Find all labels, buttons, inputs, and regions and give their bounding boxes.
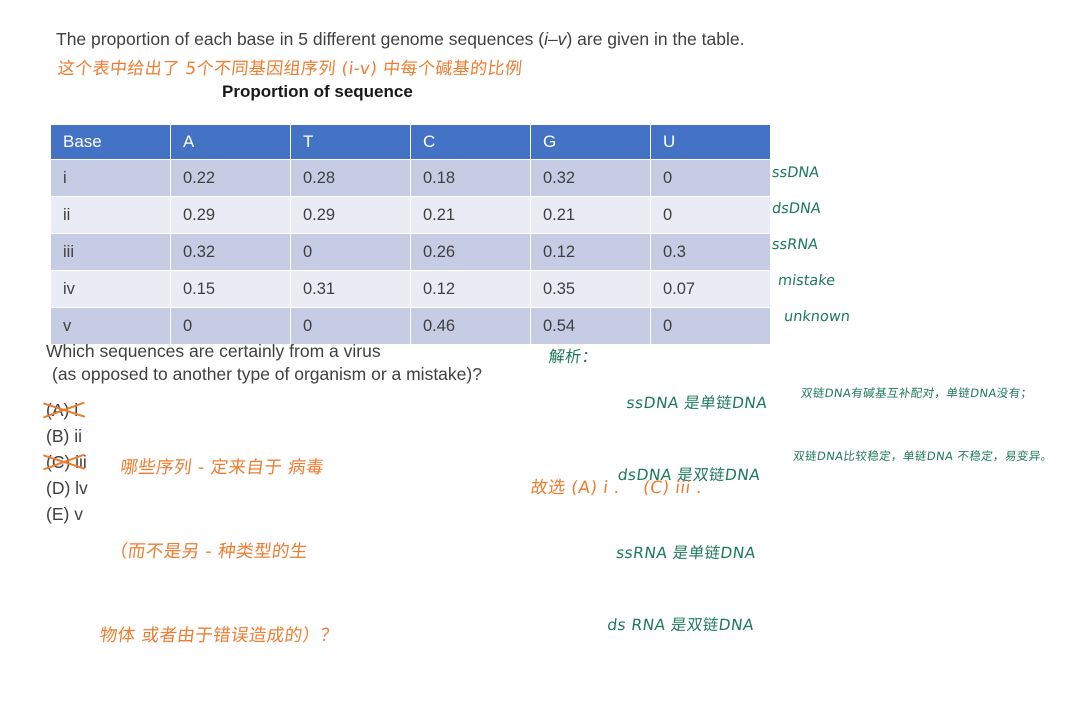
cell-a: 0.15 [171, 271, 291, 308]
genome-proportion-table: Base A T C G U i 0.22 0.28 0.18 0.32 0 i… [50, 124, 771, 345]
table-header-row: Base A T C G U [51, 125, 771, 160]
question-stem-suffix: ) are given in the table. [566, 29, 744, 49]
cell-c: 0.21 [411, 197, 531, 234]
cell-c: 0.26 [411, 234, 531, 271]
handwritten-explanation-label: 解析： [548, 343, 600, 367]
cell-t: 0.29 [291, 197, 411, 234]
handwritten-explanation-list: ssDNA 是单链DNA dsDNA 是双链DNA ssRNA 是单链DNA d… [592, 343, 789, 685]
table-header-a: A [171, 125, 291, 160]
question-line-2: (as opposed to another type of organism … [46, 363, 482, 386]
cell-u: 0.07 [651, 271, 771, 308]
question-text: Which sequences are certainly from a vir… [46, 340, 482, 386]
cell-g: 0.21 [531, 197, 651, 234]
table-caption: Proportion of sequence [222, 82, 413, 102]
answer-choice-d[interactable]: (D) lv [46, 475, 88, 501]
answer-choice-a[interactable]: (A) i [46, 397, 88, 423]
cell-u: 0.3 [651, 234, 771, 271]
table-header-g: G [531, 125, 651, 160]
slide-canvas: The proportion of each base in 5 differe… [0, 0, 1080, 608]
table-row: v 0 0 0.46 0.54 0 [51, 308, 771, 345]
answer-choice-a-label: (A) i [46, 400, 78, 420]
cell-base: i [51, 160, 171, 197]
answer-choice-e[interactable]: (E) v [46, 501, 88, 527]
cell-t: 0.28 [291, 160, 411, 197]
cell-g: 0.32 [531, 160, 651, 197]
cell-base: ii [51, 197, 171, 234]
row-annotation-i: ssDNA [770, 155, 852, 191]
question-stem-prefix: The proportion of each base in 5 differe… [56, 29, 544, 49]
answer-choice-b-label: (B) ii [46, 426, 82, 446]
row-annotation-iii: ssRNA [770, 227, 852, 263]
table-header-base: Base [51, 125, 171, 160]
handwritten-reasoning-note-1: 双链DNA有碱基互补配对，单链DNA没有； [800, 383, 1062, 404]
cell-u: 0 [651, 160, 771, 197]
cell-a: 0.32 [171, 234, 291, 271]
cell-base: iv [51, 271, 171, 308]
handwritten-stem-translation: 这个表中给出了 5个不同基因组序列 (i-v) 中每个碱基的比例 [57, 54, 524, 79]
handwritten-reasoning-note-2: 双链DNA比较稳定，单链DNA 不稳定，易变异。 [792, 446, 1054, 467]
cell-g: 0.12 [531, 234, 651, 271]
handwritten-reasoning-notes: 双链DNA有碱基互补配对，单链DNA没有； 双链DNA比较稳定，单链DNA 不稳… [787, 340, 1067, 510]
answer-choice-c[interactable]: (C) iii [46, 449, 88, 475]
table-row: i 0.22 0.28 0.18 0.32 0 [51, 160, 771, 197]
handwritten-question-translation-line-3: 物体 或者由于错误造成的）？ [98, 622, 340, 650]
question-line-1: Which sequences are certainly from a vir… [46, 340, 482, 363]
table-row: ii 0.29 0.29 0.21 0.21 0 [51, 197, 771, 234]
answer-choice-d-label: (D) lv [46, 478, 88, 498]
handwritten-final-answer: 故选 (A) i . (C) iii . [529, 473, 704, 498]
cell-g: 0.54 [531, 308, 651, 345]
row-annotation-iv: mistake [770, 263, 852, 299]
cell-c: 0.12 [411, 271, 531, 308]
cell-t: 0.31 [291, 271, 411, 308]
cell-a: 0.22 [171, 160, 291, 197]
cell-g: 0.35 [531, 271, 651, 308]
handwritten-question-translation-line-1: 哪些序列 - 定来自于 病毒 [119, 454, 361, 482]
table-header-c: C [411, 125, 531, 160]
answer-choice-b[interactable]: (B) ii [46, 423, 88, 449]
answer-choice-e-label: (E) v [46, 504, 83, 524]
handwritten-question-translation: 哪些序列 - 定来自于 病毒 （而不是另 - 种类型的生 物体 或者由于错误造成… [91, 398, 367, 706]
answer-choice-c-label: (C) iii [46, 452, 87, 472]
table-row: iv 0.15 0.31 0.12 0.35 0.07 [51, 271, 771, 308]
handwritten-explanation-line-4: ds RNA 是双链DNA [598, 613, 756, 637]
table-header-t: T [291, 125, 411, 160]
question-stem-italic-range: i–v [544, 29, 566, 49]
cell-c: 0.18 [411, 160, 531, 197]
row-annotation-ii: dsDNA [770, 191, 852, 227]
cell-a: 0 [171, 308, 291, 345]
handwritten-explanation-line-3: ssRNA 是单链DNA [607, 541, 765, 565]
cell-c: 0.46 [411, 308, 531, 345]
row-annotation-v: unknown [770, 299, 852, 335]
handwritten-question-translation-line-2: （而不是另 - 种类型的生 [108, 538, 350, 566]
cell-u: 0 [651, 308, 771, 345]
table-row: iii 0.32 0 0.26 0.12 0.3 [51, 234, 771, 271]
table-header-u: U [651, 125, 771, 160]
question-stem: The proportion of each base in 5 differe… [56, 29, 744, 51]
cell-base: iii [51, 234, 171, 271]
cell-base: v [51, 308, 171, 345]
cell-u: 0 [651, 197, 771, 234]
answer-choice-list: (A) i (B) ii (C) iii (D) lv (E) v [46, 397, 88, 527]
cell-a: 0.29 [171, 197, 291, 234]
handwritten-explanation-line-1: ssDNA 是单链DNA [625, 391, 783, 415]
cell-t: 0 [291, 234, 411, 271]
handwritten-row-annotations: ssDNA dsDNA ssRNA mistake unknown [772, 155, 850, 335]
cell-t: 0 [291, 308, 411, 345]
